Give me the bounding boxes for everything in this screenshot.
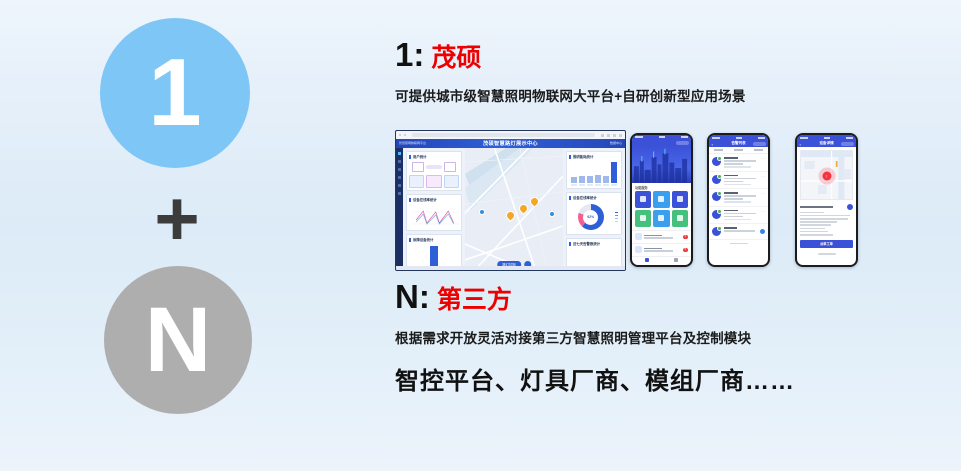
- bar: [595, 175, 601, 183]
- monitor-icon: [677, 215, 683, 221]
- sidebar-icon-home[interactable]: [398, 152, 401, 155]
- list-item-sub: [644, 250, 673, 252]
- row-line: [724, 181, 743, 183]
- filter-time[interactable]: [714, 149, 723, 151]
- axis-tick: [579, 184, 585, 186]
- tab-profile[interactable]: [662, 257, 692, 265]
- badge-n-label: N: [145, 294, 211, 386]
- row-line: [724, 213, 756, 215]
- card-user-stats: 用户统计: [406, 151, 462, 191]
- plus-label: +: [154, 179, 200, 257]
- row-line: [724, 160, 756, 162]
- detail-line: [800, 221, 837, 223]
- more-icon[interactable]: ···: [761, 192, 765, 203]
- alarm-bar-chart: [569, 248, 619, 268]
- legend-item: [615, 212, 620, 214]
- grid-section-title: 功能服务: [632, 183, 691, 191]
- nav-capsule-button[interactable]: [841, 142, 854, 146]
- card-title: 近七天告警数统计: [573, 241, 600, 246]
- row-line: [724, 198, 743, 200]
- home-bar: [818, 253, 836, 255]
- badge-circle-one: 1: [100, 18, 250, 168]
- phone-home-screenshot: 功能服务 3 5: [630, 133, 693, 267]
- dashboard-body: 用户统计: [396, 148, 625, 270]
- section-two-name: 第三方: [437, 280, 512, 316]
- section-one-index: 1:: [395, 36, 424, 74]
- badge-column: 1 + N: [96, 18, 268, 418]
- filter-bar[interactable]: [709, 147, 768, 154]
- dashboard-title: 茂硕智慧路灯展示中心: [483, 140, 538, 147]
- home-bar: [730, 243, 748, 245]
- detail-line: [800, 224, 831, 226]
- row-title: [724, 210, 738, 212]
- row-line: [724, 216, 743, 218]
- phone-device-detail-screenshot: ‹ 设备详情: [795, 133, 858, 267]
- dashboard-map[interactable]: 路灯控制: [465, 148, 563, 270]
- section-one-text: 1: 茂硕 可提供城市级智慧照明物联网大平台+自研创新型应用场景: [395, 36, 915, 105]
- legend-swatch: [615, 212, 618, 214]
- section-one-name: 茂硕: [431, 38, 481, 74]
- bar: [611, 162, 617, 183]
- card-marker-icon: [569, 155, 571, 159]
- row-line: [724, 219, 751, 221]
- filter-type[interactable]: [734, 149, 743, 151]
- card-device-online: 设备在线率统计: [406, 194, 462, 231]
- row-title: [724, 175, 738, 177]
- card-marker-icon: [409, 155, 411, 159]
- legend-item: [615, 218, 620, 220]
- detail-info-block: [797, 203, 856, 237]
- status-dot: [717, 209, 722, 214]
- browser-dot-icon: [399, 134, 401, 136]
- list-item-title: [644, 248, 662, 250]
- card-marker-icon: [409, 198, 411, 202]
- card-marker-icon: [569, 196, 571, 200]
- alarm-avatar-icon: [712, 192, 721, 201]
- axis-tick: [595, 184, 601, 186]
- status-clock: [824, 137, 830, 139]
- browser-tool-icon: [607, 134, 610, 137]
- phone-screen: 功能服务 3 5: [632, 135, 691, 265]
- nav-capsule-button[interactable]: [676, 141, 689, 145]
- plus-icon: +: [144, 178, 210, 258]
- list-item-sub: [644, 237, 673, 239]
- phone-screen: ‹ 设备详情: [797, 135, 856, 265]
- status-carrier-icon: [800, 137, 808, 139]
- legend-swatch: [615, 218, 618, 220]
- row-line: [724, 163, 743, 165]
- status-battery-icon: [758, 137, 765, 139]
- detail-line: [800, 218, 848, 220]
- badge-circle-n: N: [104, 266, 252, 414]
- card-title: 故障设备统计: [413, 237, 433, 242]
- sidebar-icon-report[interactable]: [398, 184, 401, 187]
- bar: [571, 177, 577, 183]
- status-dot: [717, 156, 722, 161]
- card-header: 近七天告警数统计: [569, 241, 619, 246]
- sidebar-icon-device[interactable]: [398, 168, 401, 171]
- row-line: [724, 184, 751, 186]
- user-node-icon: [444, 162, 456, 172]
- donut-chart: 62%: [578, 204, 604, 230]
- home-indicator: [797, 251, 856, 258]
- row-title: [724, 227, 738, 229]
- shield-icon: [658, 215, 664, 221]
- filter-status[interactable]: [754, 149, 763, 151]
- status-battery-icon: [681, 136, 688, 138]
- back-icon[interactable]: ‹: [800, 142, 801, 147]
- detail-title: [800, 206, 833, 208]
- browser-dot-icon: [404, 134, 406, 136]
- map-alarm-marker[interactable]: !: [822, 171, 831, 180]
- sidebar-icon-settings[interactable]: [398, 192, 401, 195]
- card-header: 设备在线率统计: [409, 197, 459, 202]
- phone-nav-bar: ‹ 设备详情: [797, 140, 856, 147]
- phone-nav-title: 告警列表: [731, 141, 745, 146]
- legend-swatch: [615, 221, 618, 223]
- dashboard-screenshot: 智慧照明物联网平台 茂硕智慧路灯展示中心 数据中心: [395, 130, 626, 271]
- alarm-avatar-icon: [712, 210, 721, 219]
- card-title: 照明能耗统计: [573, 154, 593, 159]
- grid-tile-field-staff[interactable]: [672, 191, 688, 208]
- grid-tile-smart-security[interactable]: [653, 210, 669, 227]
- bar: [579, 176, 585, 183]
- map-dot-marker[interactable]: [479, 209, 485, 215]
- alarm-row-text: [724, 175, 759, 186]
- grid-tile-smart-manhole[interactable]: [635, 210, 651, 227]
- alarm-row[interactable]: ···: [709, 154, 768, 172]
- user-stat-tile: [426, 175, 441, 188]
- status-badge: 5: [683, 248, 688, 252]
- energy-bar-chart: [569, 161, 619, 183]
- slide-root: 1 + N 1: 茂硕 可提供城市级智慧照明物联网大平台+自研创新型应用场景: [0, 0, 961, 471]
- list-item[interactable]: 5: [632, 243, 691, 256]
- detail-map[interactable]: !: [800, 150, 853, 200]
- city-skyline-banner: [632, 146, 691, 183]
- tab-home[interactable]: [632, 257, 662, 265]
- grid-tile-smart-distribution[interactable]: [653, 191, 669, 208]
- row-title: [724, 157, 738, 159]
- alarm-row[interactable]: ···: [709, 172, 768, 190]
- browser-avatar-icon: [619, 134, 622, 137]
- bar: [603, 176, 609, 183]
- energy-axis-labels: [569, 183, 619, 186]
- alarm-avatar-icon: [712, 175, 721, 184]
- status-carrier-icon: [712, 137, 720, 139]
- section-two-text: N: 第三方 根据需求开放灵活对接第三方智慧照明管理平台及控制模块 智控平台、灯…: [395, 278, 925, 396]
- dashboard-breadcrumb-left: 智慧照明物联网平台: [399, 141, 426, 145]
- detail-action-icon[interactable]: [847, 204, 853, 210]
- axis-tick: [611, 184, 617, 186]
- section-two-highlight: 智控平台、灯具厂商、模组厂商……: [395, 361, 925, 396]
- list-item-title: [644, 235, 662, 237]
- user-stat-tile: [409, 175, 424, 188]
- tab-bar[interactable]: [632, 256, 691, 265]
- alarm-row[interactable]: [709, 224, 768, 240]
- user-link-bar: [426, 165, 442, 169]
- home-icon: [645, 258, 649, 262]
- more-icon[interactable]: ···: [761, 157, 765, 168]
- bar: [587, 176, 593, 183]
- alarm-avatar-icon: [712, 157, 721, 166]
- phone-alarm-list-screenshot: ‹ 告警列表 ··· ···: [707, 133, 770, 267]
- person-icon: [674, 258, 678, 262]
- user-node-icon: [412, 162, 424, 172]
- phone-nav-bar: ‹ 告警列表: [709, 140, 768, 147]
- browser-tool-icon: [601, 134, 604, 137]
- alarm-row-text: [724, 157, 759, 168]
- home-indicator: [709, 240, 768, 247]
- row-line: [724, 166, 751, 168]
- more-icon[interactable]: ···: [761, 210, 765, 221]
- alarm-row-text: [724, 210, 759, 221]
- user-stat-tile: [444, 175, 459, 188]
- status-dot: [717, 191, 722, 196]
- line-chart: [409, 204, 459, 228]
- status-clock: [736, 137, 742, 139]
- card-header: 设备在线率统计: [569, 195, 619, 200]
- sidebar-icon-alarm[interactable]: [398, 176, 401, 179]
- sidebar-icon-map[interactable]: [398, 160, 401, 163]
- action-dot-button[interactable]: [760, 229, 765, 234]
- media-strip: 智慧照明物联网平台 茂硕智慧路灯展示中心 数据中心: [395, 130, 875, 270]
- phone-screen: ‹ 告警列表 ··· ···: [709, 135, 768, 265]
- card-title: 设备在线率统计: [573, 195, 597, 200]
- alarm-row-text: [724, 227, 758, 236]
- status-dot: [717, 174, 722, 179]
- dashboard-breadcrumb-right: 数据中心: [610, 141, 622, 145]
- section-one-heading: 1: 茂硕: [395, 36, 915, 74]
- badge-one-label: 1: [148, 45, 201, 141]
- legend-swatch: [615, 215, 618, 217]
- card-title: 设备在线率统计: [413, 197, 437, 202]
- lamp-icon: [640, 196, 646, 202]
- donut-value: 62%: [583, 210, 598, 225]
- function-grid[interactable]: [632, 191, 691, 227]
- donut-legend: [613, 212, 620, 223]
- alarm-row[interactable]: ···: [709, 207, 768, 225]
- card-energy-stats: 照明能耗统计: [566, 151, 622, 189]
- dispatch-order-button[interactable]: 派单工单: [800, 240, 853, 248]
- row-title: [724, 192, 738, 194]
- dashboard-left-column: 用户统计: [403, 148, 465, 270]
- grid-tile-single-lamp-control[interactable]: [635, 191, 651, 208]
- detail-line: [800, 212, 824, 214]
- card-online-rate: 设备在线率统计 62%: [566, 192, 622, 235]
- legend-item: [615, 221, 620, 223]
- axis-tick: [571, 184, 577, 186]
- more-icon[interactable]: ···: [761, 175, 765, 186]
- section-two-subtitle: 根据需求开放灵活对接第三方智慧照明管理平台及控制模块: [395, 327, 925, 347]
- section-two-heading: N: 第三方: [395, 278, 925, 316]
- browser-url-bar[interactable]: [412, 133, 595, 137]
- worker-icon: [677, 196, 683, 202]
- detail-line: [800, 228, 825, 230]
- dashboard-header: 智慧照明物联网平台 茂硕智慧路灯展示中心 数据中心: [396, 139, 625, 148]
- dashboard-right-column: 照明能耗统计: [563, 148, 625, 270]
- detail-header: [800, 204, 853, 210]
- card-marker-icon: [569, 242, 571, 246]
- status-battery-icon: [846, 137, 853, 139]
- browser-chrome: [396, 131, 625, 139]
- list-item-text: [644, 235, 681, 239]
- alarm-row-text: [724, 192, 759, 203]
- card-header: 故障设备统计: [409, 237, 459, 242]
- list-item[interactable]: 3: [632, 230, 691, 243]
- manhole-icon: [640, 215, 646, 221]
- alarm-row[interactable]: ···: [709, 189, 768, 207]
- card-header: 用户统计: [409, 154, 459, 159]
- alarm-icon: [635, 233, 642, 240]
- nav-capsule-button[interactable]: [753, 142, 766, 146]
- row-line: [724, 195, 756, 197]
- row-line: [724, 178, 756, 180]
- phone-nav-title: 设备详情: [819, 141, 833, 146]
- axis-tick: [587, 184, 593, 186]
- card-title: 用户统计: [413, 154, 427, 159]
- card-header: 照明能耗统计: [569, 154, 619, 159]
- detail-line: [800, 234, 833, 236]
- back-icon[interactable]: ‹: [712, 142, 713, 147]
- status-dot: [717, 226, 722, 231]
- card-marker-icon: [409, 238, 411, 242]
- status-badge: 3: [683, 235, 688, 239]
- list-item-text: [644, 248, 681, 252]
- row-line: [724, 201, 751, 203]
- power-icon: [658, 196, 664, 202]
- grid-tile-smart-monitor[interactable]: [672, 210, 688, 227]
- detail-line: [800, 231, 828, 233]
- status-carrier-icon: [635, 136, 643, 138]
- dashboard-footer: [396, 266, 625, 270]
- dashboard-sidebar[interactable]: [396, 148, 403, 270]
- section-two-index: N:: [395, 278, 430, 316]
- worklist-icon: [635, 246, 642, 253]
- alarm-avatar-icon: [712, 227, 721, 236]
- detail-line: [800, 215, 850, 217]
- browser-tool-icon: [613, 134, 616, 137]
- section-one-subtitle: 可提供城市级智慧照明物联网大平台+自研创新型应用场景: [395, 85, 915, 105]
- axis-tick: [603, 184, 609, 186]
- row-line: [724, 230, 755, 232]
- legend-item: [615, 215, 620, 217]
- status-clock: [659, 136, 665, 138]
